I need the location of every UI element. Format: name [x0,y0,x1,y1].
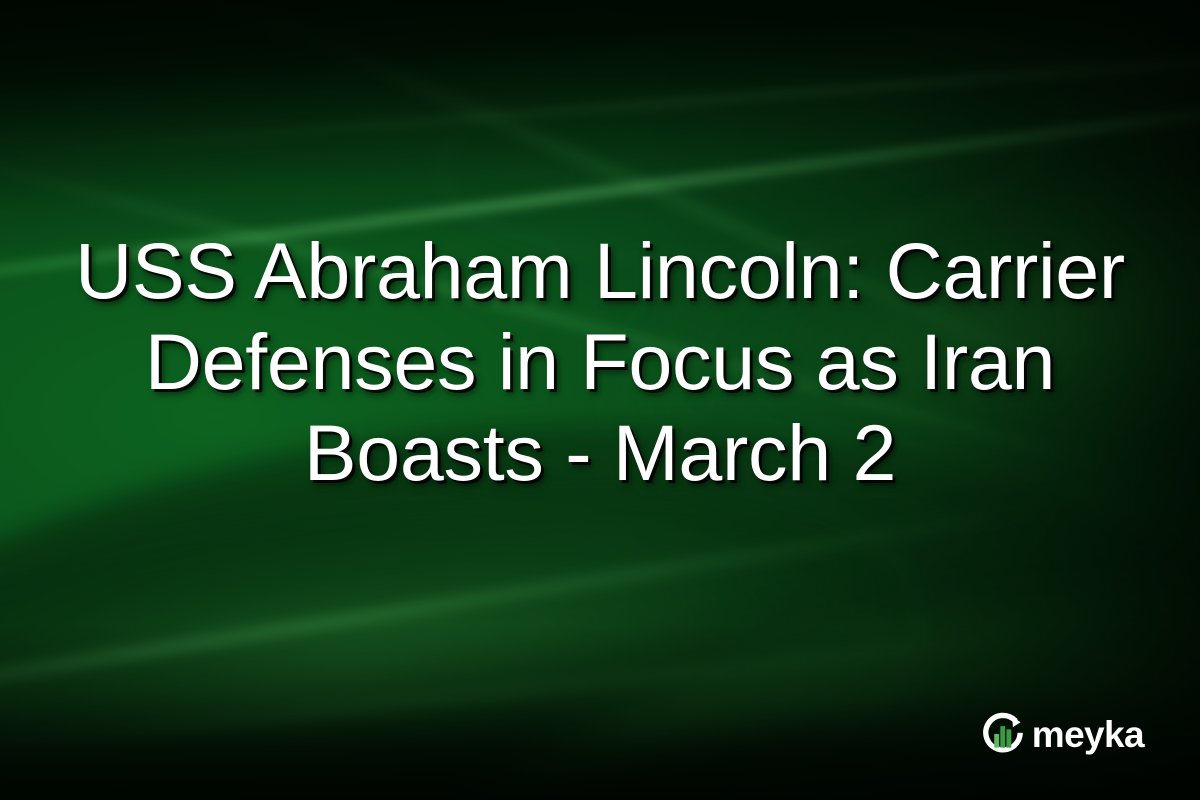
share-card: USS Abraham Lincoln: Carrier Defenses in… [0,0,1200,800]
background-light-streak-5 [0,501,1071,745]
background-wave-dark-bottom [157,618,1200,800]
brand-logo[interactable]: meyka [979,710,1144,758]
background-light-streak-2 [12,34,1200,156]
background-light-streak-6 [0,631,1057,776]
brand-wordmark: meyka [1032,716,1144,753]
headline-title: USS Abraham Lincoln: Carrier Defenses in… [0,225,1200,498]
background-wisp-2 [330,0,1200,215]
circular-arrow-bar-chart-icon [979,710,1027,758]
